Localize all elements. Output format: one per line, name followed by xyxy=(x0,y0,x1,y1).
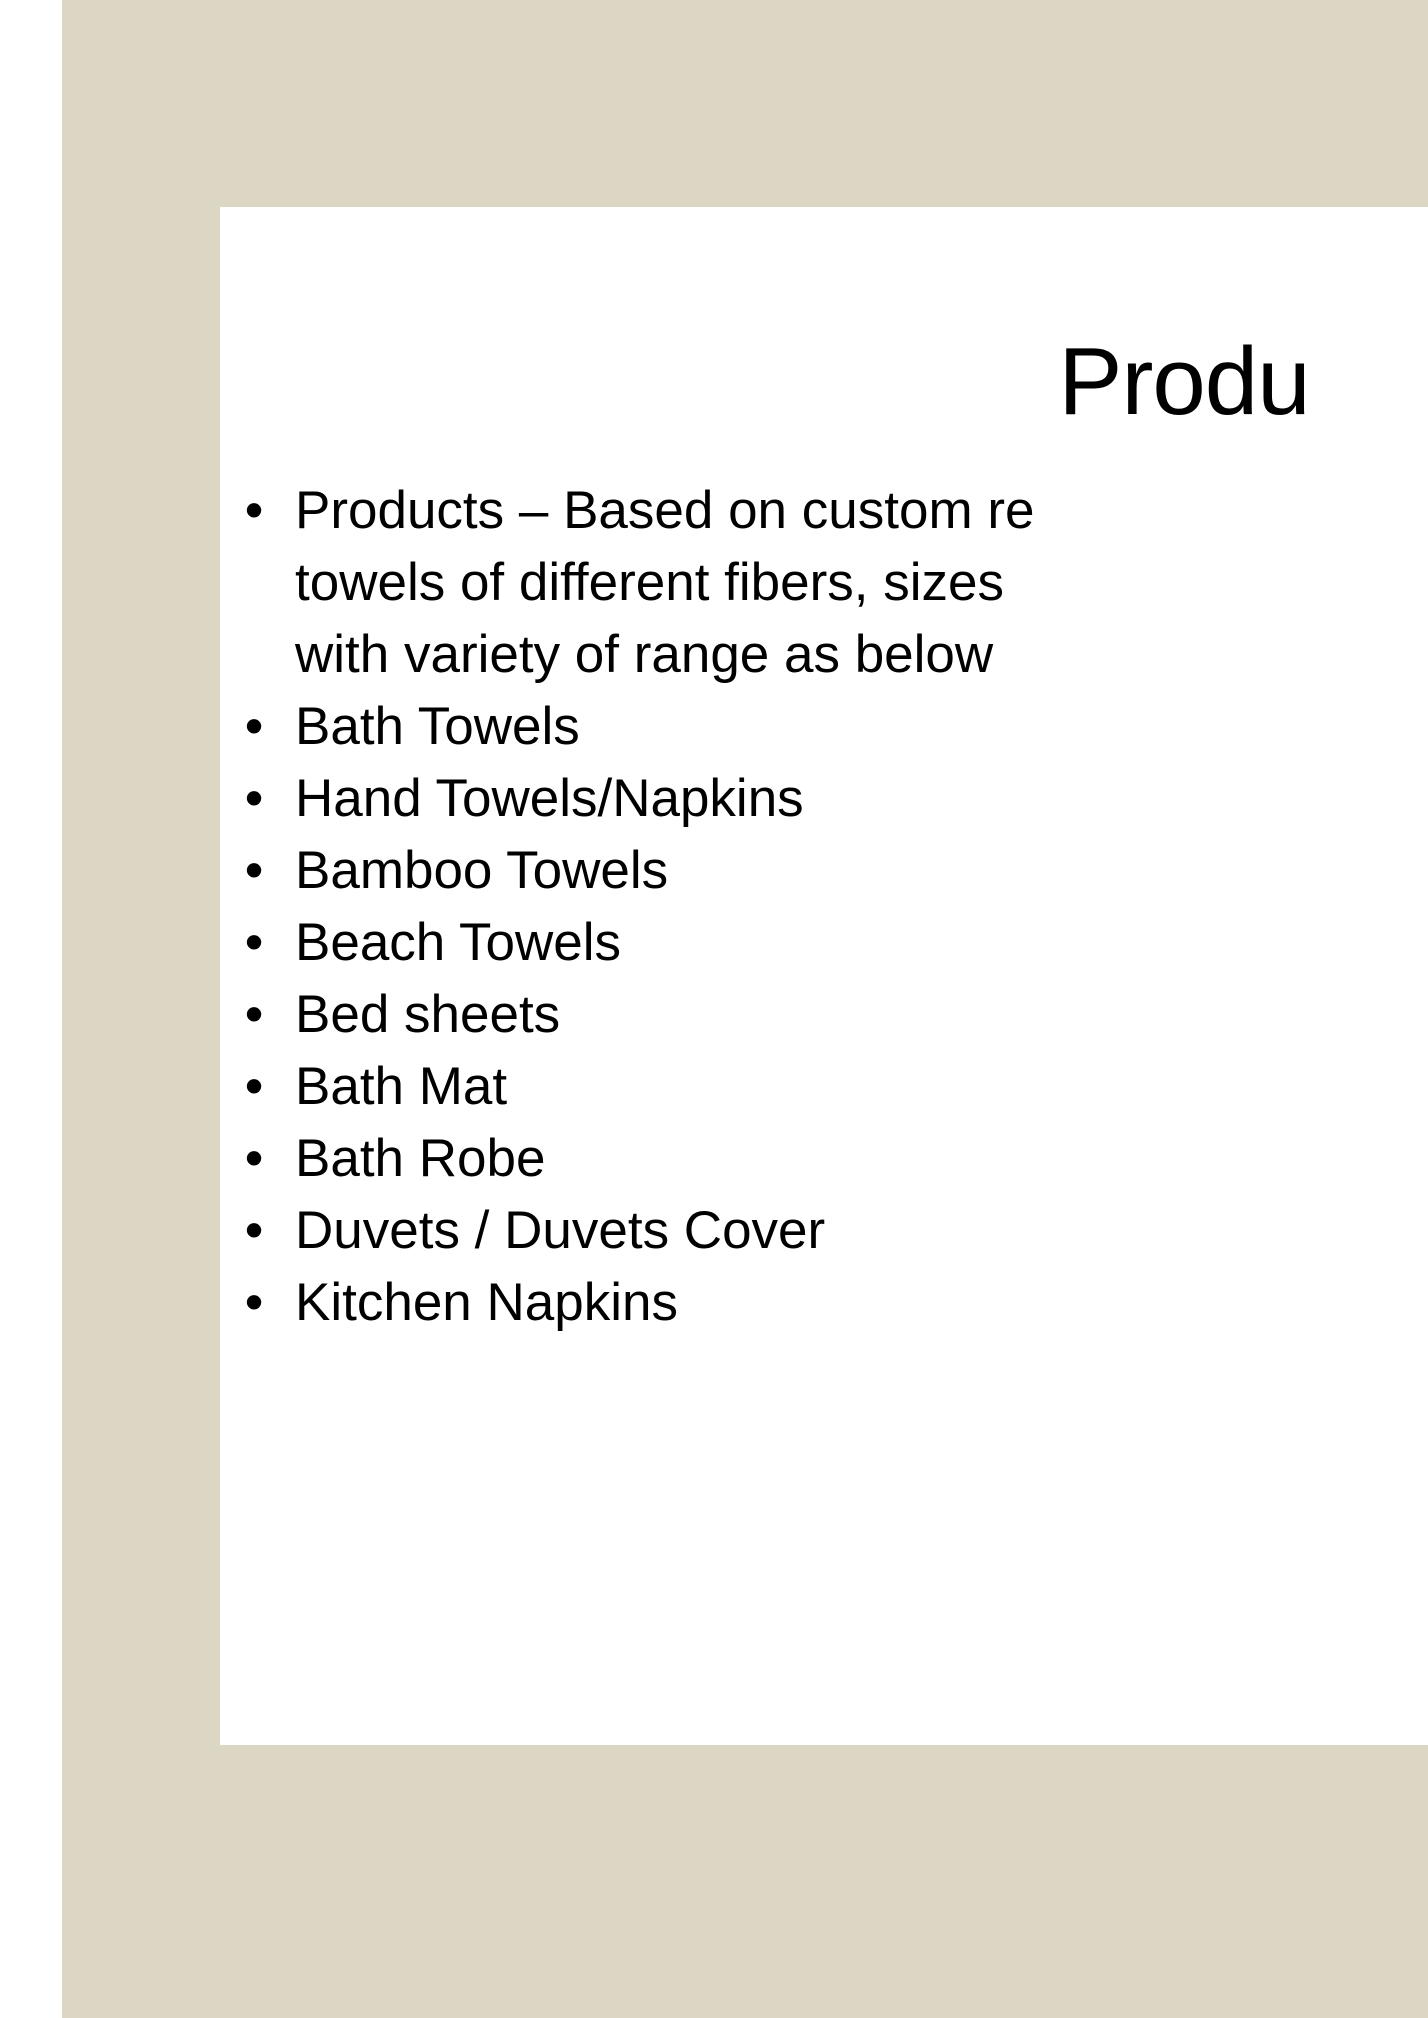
bullet-text: Bath Robe xyxy=(288,1123,1428,1195)
list-item: • Products – Based on custom re towels o… xyxy=(220,475,1428,691)
bullet-icon: • xyxy=(220,979,288,1051)
bullet-icon: • xyxy=(220,1123,288,1195)
bullet-icon: • xyxy=(220,835,288,907)
bullet-text: Bed sheets xyxy=(288,979,1428,1051)
bullet-text: Hand Towels/Napkins xyxy=(288,763,1428,835)
bullet-text: Beach Towels xyxy=(288,907,1428,979)
bullet-icon: • xyxy=(220,691,288,763)
bullet-icon: • xyxy=(220,907,288,979)
bullet-text: Kitchen Napkins xyxy=(288,1267,1428,1339)
bullet-text: Duvets / Duvets Cover xyxy=(288,1195,1428,1267)
product-bullet-list: • Products – Based on custom re towels o… xyxy=(220,475,1428,1339)
bullet-text: Products – Based on custom re towels of … xyxy=(288,475,1428,691)
list-item: • Kitchen Napkins xyxy=(220,1267,1428,1339)
bullet-icon: • xyxy=(220,1195,288,1267)
list-item: • Bath Mat xyxy=(220,1051,1428,1123)
list-item: • Bath Towels xyxy=(220,691,1428,763)
bullet-icon: • xyxy=(220,475,288,547)
bullet-text: Bamboo Towels xyxy=(288,835,1428,907)
list-item: • Duvets / Duvets Cover xyxy=(220,1195,1428,1267)
list-item: • Bed sheets xyxy=(220,979,1428,1051)
slide-title: Produ xyxy=(580,332,1428,433)
list-item: • Hand Towels/Napkins xyxy=(220,763,1428,835)
list-item: • Bamboo Towels xyxy=(220,835,1428,907)
list-item: • Bath Robe xyxy=(220,1123,1428,1195)
bullet-icon: • xyxy=(220,1267,288,1339)
slide-content-panel: Produ • Products – Based on custom re to… xyxy=(220,207,1428,1745)
bullet-icon: • xyxy=(220,1051,288,1123)
bullet-text: Bath Mat xyxy=(288,1051,1428,1123)
bullet-icon: • xyxy=(220,763,288,835)
list-item: • Beach Towels xyxy=(220,907,1428,979)
bullet-text: Bath Towels xyxy=(288,691,1428,763)
